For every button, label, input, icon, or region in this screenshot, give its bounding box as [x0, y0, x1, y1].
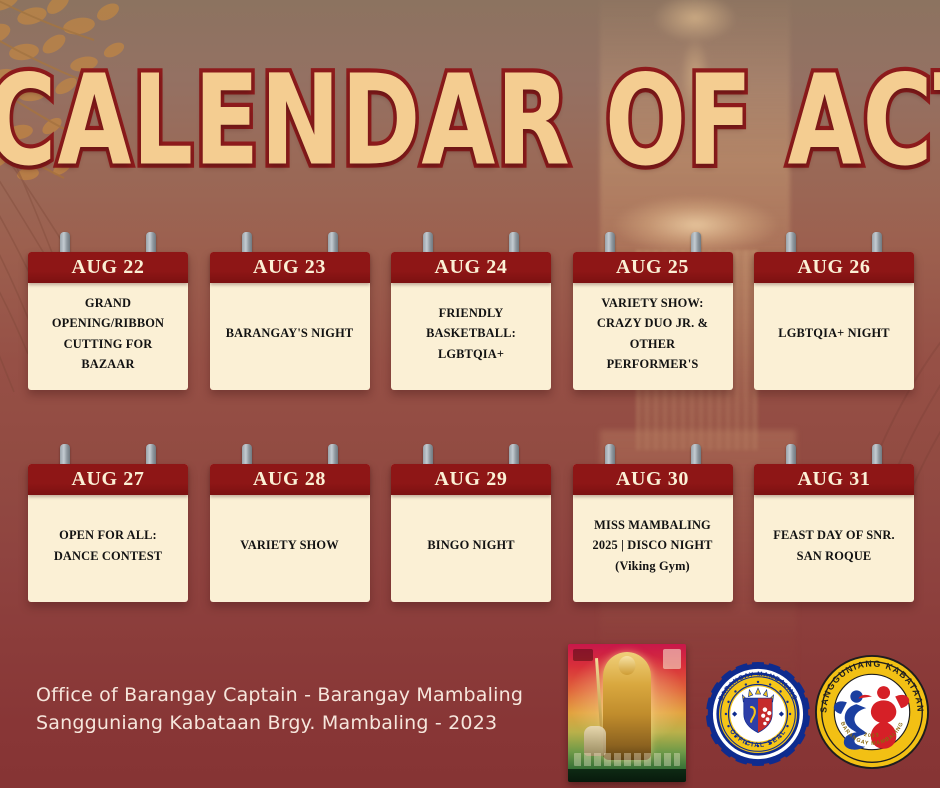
card-activity: MISS MAMBALING 2025 | DISCO NIGHT (Vikin… [583, 515, 723, 575]
card-body: FRIENDLY BASKETBALL: LGBTQIA+ [391, 283, 551, 390]
photo-corner-badge-left [573, 649, 593, 661]
calendar-grid: AUG 22 GRAND OPENING/RIBBON CUTTING FOR … [28, 252, 914, 602]
card-activity: VARIETY SHOW: CRAZY DUO JR. & OTHER PERF… [583, 293, 723, 373]
card-activity: BARANGAY'S NIGHT [226, 323, 354, 343]
calendar-card[interactable]: AUG 31 FEAST DAY OF SNR. SAN ROQUE [754, 464, 914, 602]
calendar-row-2: AUG 27 OPEN FOR ALL: DANCE CONTEST AUG 2… [28, 464, 914, 602]
footer-line-2: Sangguniang Kabataan Brgy. Mambaling - 2… [36, 710, 523, 738]
card-body: OPEN FOR ALL: DANCE CONTEST [28, 495, 188, 602]
card-activity: BINGO NIGHT [427, 535, 514, 555]
poster-title-wrap: CALENDAR OF ACTIVITIES [0, 58, 940, 162]
card-activity: LGBTQIA+ NIGHT [778, 323, 889, 343]
card-activity: OPEN FOR ALL: DANCE CONTEST [38, 525, 178, 565]
card-date: AUG 29 [391, 464, 551, 495]
card-date: AUG 25 [573, 252, 733, 283]
page-title: CALENDAR OF ACTIVITIES [0, 58, 940, 183]
card-body: MISS MAMBALING 2025 | DISCO NIGHT (Vikin… [573, 495, 733, 602]
card-activity: FRIENDLY BASKETBALL: LGBTQIA+ [401, 303, 541, 363]
card-date: AUG 30 [573, 464, 733, 495]
footer-line-1: Office of Barangay Captain - Barangay Ma… [36, 682, 523, 710]
card-body: GRAND OPENING/RIBBON CUTTING FOR BAZAAR [28, 283, 188, 390]
photo-caption-text [574, 753, 680, 766]
photo-bottom-strip [568, 769, 686, 782]
card-body: BARANGAY'S NIGHT [210, 283, 370, 390]
card-body: VARIETY SHOW: CRAZY DUO JR. & OTHER PERF… [573, 283, 733, 390]
calendar-row-1: AUG 22 GRAND OPENING/RIBBON CUTTING FOR … [28, 252, 914, 390]
card-body: BINGO NIGHT [391, 495, 551, 602]
card-date: AUG 24 [391, 252, 551, 283]
sangguniang-kabataan-seal-icon: SANGGUNIANG KABATAAN BARANGAY MAMBALING … [814, 654, 930, 770]
photo-corner-badge-right [663, 649, 681, 669]
calendar-card[interactable]: AUG 27 OPEN FOR ALL: DANCE CONTEST [28, 464, 188, 602]
san-roque-statue-photo [568, 644, 686, 782]
statue-dog [584, 726, 606, 756]
calendar-card[interactable]: AUG 26 LGBTQIA+ NIGHT [754, 252, 914, 390]
calendar-card[interactable]: AUG 24 FRIENDLY BASKETBALL: LGBTQIA+ [391, 252, 551, 390]
card-body: VARIETY SHOW [210, 495, 370, 602]
calendar-card[interactable]: AUG 29 BINGO NIGHT [391, 464, 551, 602]
card-body: LGBTQIA+ NIGHT [754, 283, 914, 390]
card-date: AUG 31 [754, 464, 914, 495]
calendar-poster: CALENDAR OF ACTIVITIES AUG 22 GRAND OPEN… [0, 0, 940, 788]
statue-head [619, 656, 636, 675]
footer-credits: Office of Barangay Captain - Barangay Ma… [36, 682, 523, 737]
calendar-card[interactable]: AUG 28 VARIETY SHOW [210, 464, 370, 602]
calendar-card[interactable]: AUG 25 VARIETY SHOW: CRAZY DUO JR. & OTH… [573, 252, 733, 390]
card-date: AUG 28 [210, 464, 370, 495]
card-activity: GRAND OPENING/RIBBON CUTTING FOR BAZAAR [38, 293, 178, 373]
card-date: AUG 26 [754, 252, 914, 283]
barangay-mambaling-seal-icon: BARANGAY MAMBALING OFFICIAL SEAL [706, 662, 810, 766]
calendar-card[interactable]: AUG 23 BARANGAY'S NIGHT [210, 252, 370, 390]
calendar-card[interactable]: AUG 30 MISS MAMBALING 2025 | DISCO NIGHT… [573, 464, 733, 602]
card-activity: FEAST DAY OF SNR. SAN ROQUE [764, 525, 904, 565]
calendar-card[interactable]: AUG 22 GRAND OPENING/RIBBON CUTTING FOR … [28, 252, 188, 390]
card-activity: VARIETY SHOW [240, 535, 339, 555]
card-date: AUG 27 [28, 464, 188, 495]
card-body: FEAST DAY OF SNR. SAN ROQUE [754, 495, 914, 602]
card-date: AUG 23 [210, 252, 370, 283]
card-date: AUG 22 [28, 252, 188, 283]
